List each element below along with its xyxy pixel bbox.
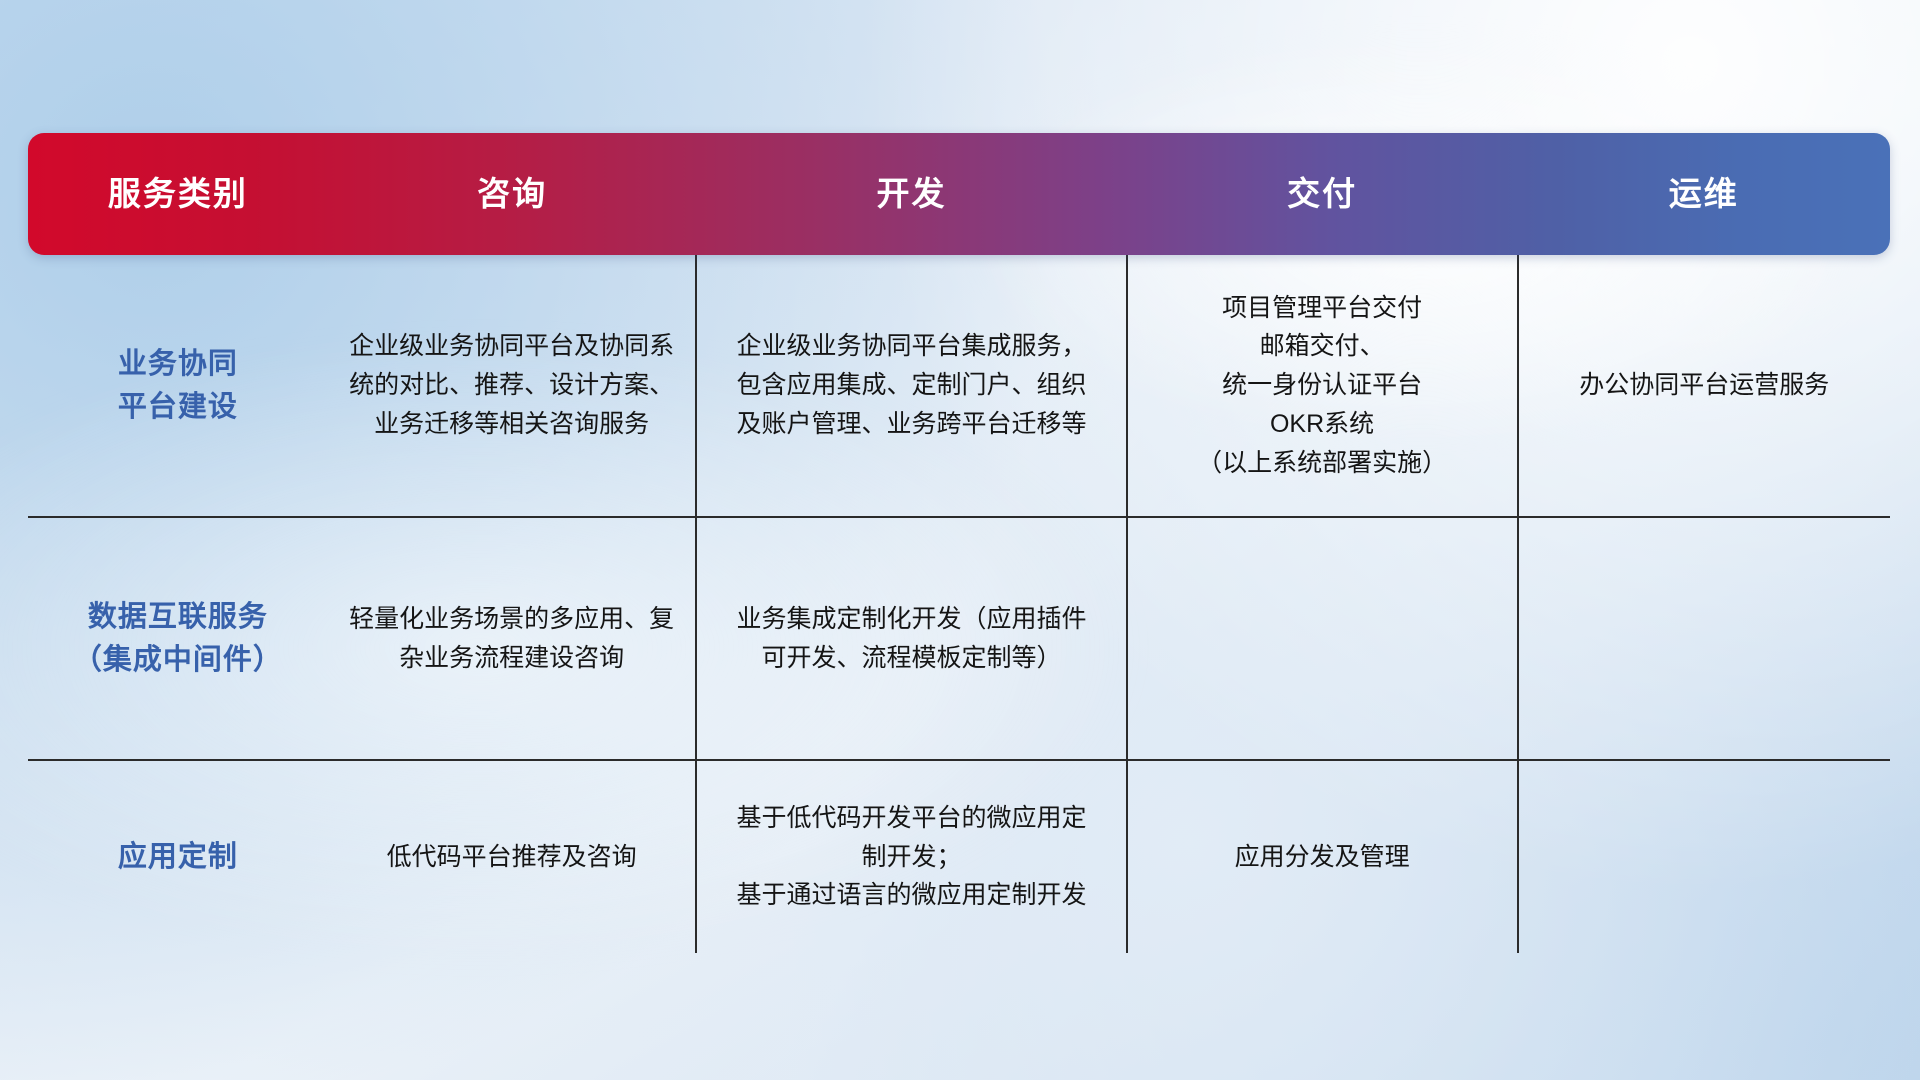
column-header-operations[interactable]: 运维: [1518, 133, 1890, 255]
table-row: 应用定制 低代码平台推荐及咨询 基于低代码开发平台的微应用定 制开发； 基于通过…: [28, 760, 1890, 953]
column-header-delivery[interactable]: 交付: [1127, 133, 1518, 255]
column-header-operations-label: 运维: [1518, 133, 1890, 255]
cell-application-customization-delivery: 应用分发及管理: [1127, 760, 1518, 953]
table-row: 业务协同 平台建设 企业级业务协同平台及协同系 统的对比、推荐、设计方案、 业务…: [28, 255, 1890, 517]
column-header-category-label: 服务类别: [28, 133, 328, 255]
cell-application-customization-operations: [1518, 760, 1890, 953]
cell-application-customization-consulting: 低代码平台推荐及咨询: [328, 760, 697, 953]
cell-data-interconnection-operations: [1518, 517, 1890, 760]
row-category-application-customization: 应用定制: [28, 760, 328, 953]
service-category-table-container: 服务类别 咨询 开发 交付 运维 业务协同 平台建设 企业级业务协同平台及协: [28, 133, 1890, 953]
cell-application-customization-development: 基于低代码开发平台的微应用定 制开发； 基于通过语言的微应用定制开发: [696, 760, 1126, 953]
column-header-category[interactable]: 服务类别: [28, 133, 328, 255]
row-category-business-collaboration: 业务协同 平台建设: [28, 255, 328, 517]
column-header-consulting[interactable]: 咨询: [328, 133, 697, 255]
cell-business-collaboration-delivery: 项目管理平台交付 邮箱交付、 统一身份认证平台 OKR系统 （以上系统部署实施）: [1127, 255, 1518, 517]
table-body: 业务协同 平台建设 企业级业务协同平台及协同系 统的对比、推荐、设计方案、 业务…: [28, 255, 1890, 953]
cell-business-collaboration-consulting: 企业级业务协同平台及协同系 统的对比、推荐、设计方案、 业务迁移等相关咨询服务: [328, 255, 697, 517]
cell-data-interconnection-delivery: [1127, 517, 1518, 760]
column-header-delivery-label: 交付: [1127, 133, 1518, 255]
cell-data-interconnection-consulting: 轻量化业务场景的多应用、复 杂业务流程建设咨询: [328, 517, 697, 760]
column-header-development[interactable]: 开发: [696, 133, 1126, 255]
table-header-row: 服务类别 咨询 开发 交付 运维: [28, 133, 1890, 255]
cell-data-interconnection-development: 业务集成定制化开发（应用插件 可开发、流程模板定制等）: [696, 517, 1126, 760]
cell-business-collaboration-operations: 办公协同平台运营服务: [1518, 255, 1890, 517]
cell-business-collaboration-development: 企业级业务协同平台集成服务， 包含应用集成、定制门户、组织 及账户管理、业务跨平…: [696, 255, 1126, 517]
row-category-data-interconnection: 数据互联服务 （集成中间件）: [28, 517, 328, 760]
service-category-table: 服务类别 咨询 开发 交付 运维 业务协同 平台建设 企业级业务协同平台及协: [28, 133, 1890, 953]
column-header-consulting-label: 咨询: [328, 133, 697, 255]
column-header-development-label: 开发: [696, 133, 1126, 255]
table-row: 数据互联服务 （集成中间件） 轻量化业务场景的多应用、复 杂业务流程建设咨询 业…: [28, 517, 1890, 760]
table-header: 服务类别 咨询 开发 交付 运维: [28, 133, 1890, 255]
